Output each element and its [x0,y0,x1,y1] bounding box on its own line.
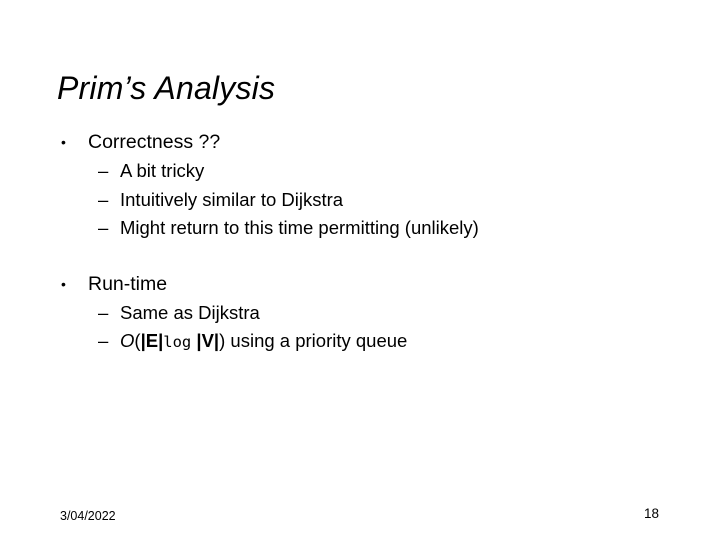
dash-marker-icon: – [98,157,108,186]
page-title: Prim’s Analysis [57,69,275,107]
sub-bullet-item-same-as-dijkstra: – Same as Dijkstra [0,299,720,328]
dash-marker-icon: – [98,327,108,356]
sub-bullet-label: Same as Dijkstra [120,302,260,323]
bullet-marker-icon: • [61,270,66,299]
bullet-item-run-time: • Run-time [0,270,720,299]
log-term: log [163,333,191,351]
dash-marker-icon: – [98,186,108,215]
edge-set-term: |E| [141,330,164,351]
slide-canvas: Prim’s Analysis • Correctness ?? – A bit… [0,0,720,540]
sub-bullet-item-complexity-formula: – O(|E|log |V|) using a priority queue [0,327,720,356]
dash-marker-icon: – [98,299,108,328]
formula-suffix-label: using a priority queue [225,330,407,351]
big-o-symbol: O [120,330,134,351]
footer-date: 3/04/2022 [60,508,116,524]
bullet-label: Correctness ?? [88,131,220,153]
sub-bullet-item-intuitively-similar: – Intuitively similar to Dijkstra [0,186,720,215]
outline-group-correctness: • Correctness ?? – A bit tricky – Intuit… [0,128,720,243]
sub-bullet-label: A bit tricky [120,160,204,181]
vertex-set-term: |V| [196,330,219,351]
slide-body: • Correctness ?? – A bit tricky – Intuit… [0,128,720,356]
complexity-formula: O(|E|log |V|) using a priority queue [120,330,407,351]
sub-bullet-label: Intuitively similar to Dijkstra [120,189,343,210]
bullet-marker-icon: • [61,128,66,157]
sub-bullet-label: Might return to this time permitting (un… [120,217,479,238]
outline-group-spacer [0,243,720,270]
bullet-item-correctness: • Correctness ?? [0,128,720,157]
dash-marker-icon: – [98,214,108,243]
sub-bullet-item-might-return: – Might return to this time permitting (… [0,214,720,243]
bullet-label: Run-time [88,273,167,295]
outline-group-runtime: • Run-time – Same as Dijkstra – O(|E|log… [0,270,720,356]
footer-page-number: 18 [644,506,659,522]
sub-bullet-item-a-bit-tricky: – A bit tricky [0,157,720,186]
